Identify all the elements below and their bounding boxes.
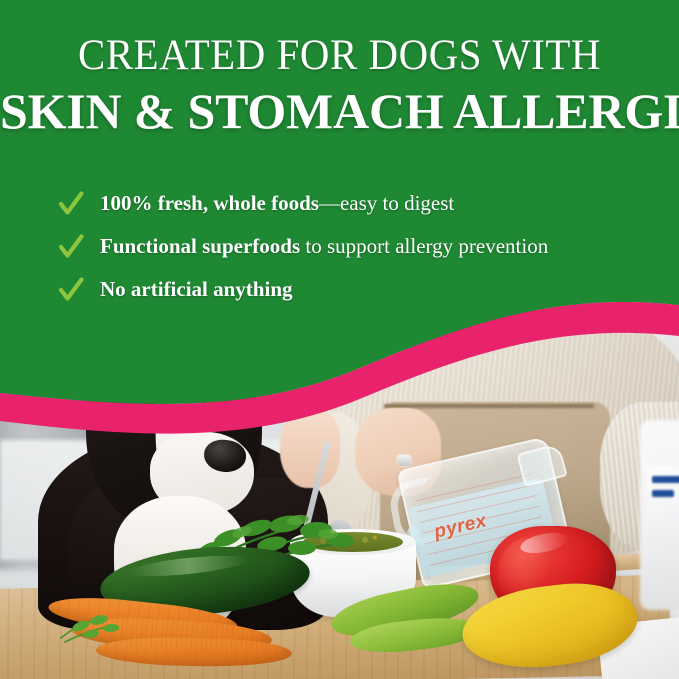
- benefit-item: 100% fresh, whole foods—easy to digest: [56, 183, 656, 225]
- benefit-text: 100% fresh, whole foods—easy to digest: [100, 192, 454, 215]
- product-feature-banner: CREATED FOR DOGS WITH SKIN & STOMACH ALL…: [0, 0, 679, 679]
- herb-sprig: [55, 608, 125, 644]
- headline-line-1: CREATED FOR DOGS WITH: [17, 34, 662, 77]
- lifestyle-photo: pyrex: [0, 290, 679, 679]
- check-icon: [56, 189, 86, 219]
- benefit-bullet-list: 100% fresh, whole foods—easy to digest F…: [56, 183, 656, 312]
- headline-block: CREATED FOR DOGS WITH SKIN & STOMACH ALL…: [0, 34, 679, 136]
- headline-line-2: SKIN & STOMACH ALLERGIES: [0, 86, 679, 136]
- dog-eye-left-highlight: [132, 406, 137, 410]
- benefit-text-bold: 100% fresh, whole foods: [100, 191, 319, 215]
- benefit-text-normal: to support allergy prevention: [300, 234, 548, 258]
- benefit-text: No artificial anything: [100, 278, 293, 301]
- benefit-item: Functional superfoods to support allergy…: [56, 226, 656, 268]
- benefit-text-bold: No artificial anything: [100, 277, 293, 301]
- apron-strap: [384, 404, 594, 408]
- hand-holding-fork: [280, 408, 340, 488]
- benefit-text-bold: Functional superfoods: [100, 234, 300, 258]
- benefit-item: No artificial anything: [56, 269, 656, 311]
- check-icon: [56, 275, 86, 305]
- benefit-text-normal: —easy to digest: [319, 191, 454, 215]
- benefit-text: Functional superfoods to support allergy…: [100, 235, 548, 258]
- dog-eye-right-highlight: [210, 398, 215, 402]
- bottle-label-text-line: [652, 476, 679, 483]
- bottle-label-text-line: [652, 490, 674, 497]
- check-icon: [56, 232, 86, 262]
